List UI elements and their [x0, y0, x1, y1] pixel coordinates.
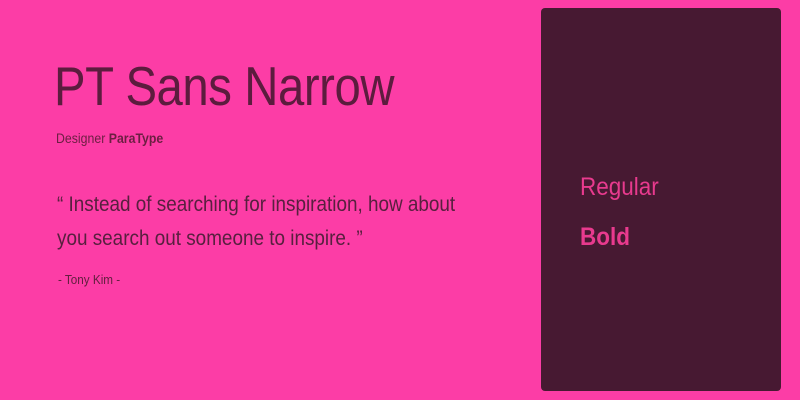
font-styles-panel: Regular Bold — [541, 8, 781, 391]
font-style-regular: Regular — [580, 162, 742, 212]
designer-credit: Designer ParaType — [56, 130, 163, 147]
sample-quote: “ Instead of searching for inspiration, … — [57, 188, 453, 256]
font-style-bold: Bold — [580, 212, 742, 262]
font-specimen-card: PT Sans Narrow Designer ParaType “ Inste… — [0, 0, 800, 400]
quote-line-1: “ Instead of searching for inspiration, … — [57, 188, 453, 222]
quote-line-2: you search out someone to inspire. ” — [57, 222, 453, 256]
designer-name: ParaType — [109, 130, 164, 146]
designer-label: Designer — [56, 130, 105, 146]
quote-attribution: - Tony Kim - — [58, 272, 120, 288]
font-name-title: PT Sans Narrow — [54, 58, 394, 116]
specimen-info-column: PT Sans Narrow Designer ParaType “ Inste… — [0, 0, 540, 400]
font-styles-list: Regular Bold — [580, 162, 760, 262]
